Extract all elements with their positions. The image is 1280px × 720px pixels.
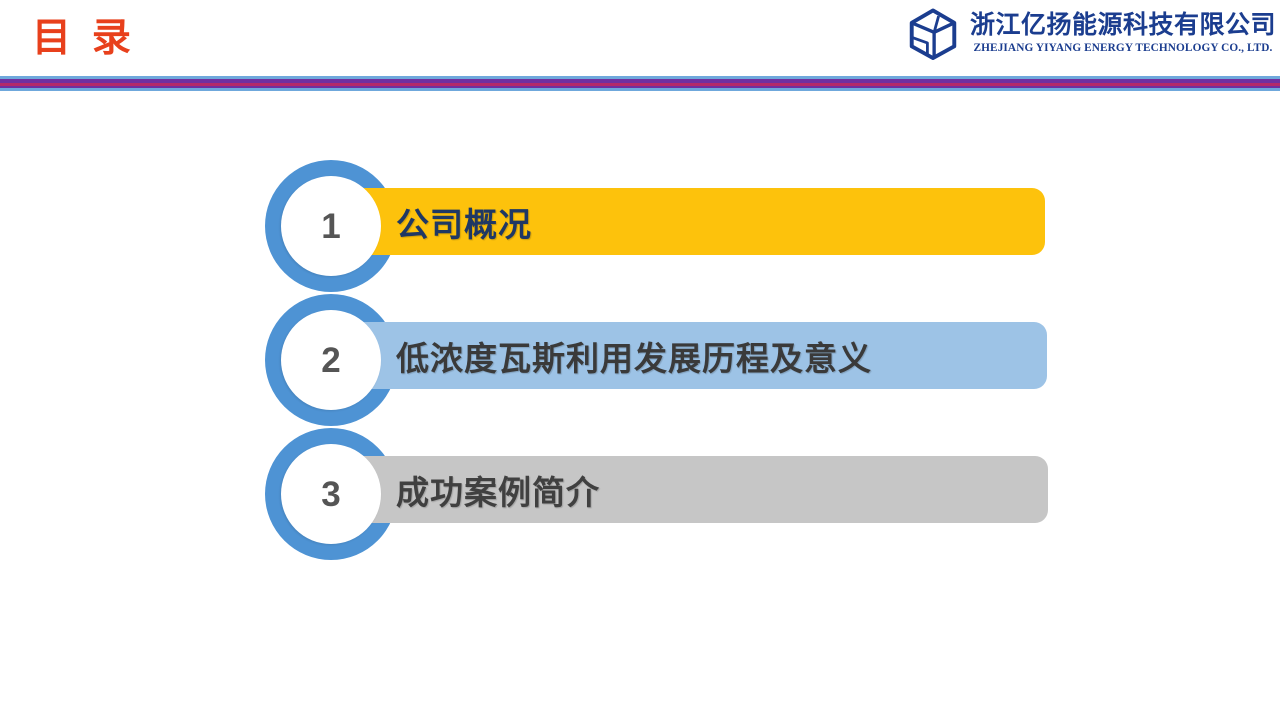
agenda-number-badge-1: 1 [281,176,381,276]
agenda-label-3: 成功案例简介 [396,456,600,523]
agenda-label-1: 公司概况 [396,188,532,255]
agenda-number-2: 2 [321,343,340,378]
agenda-bar-2[interactable]: 低浓度瓦斯利用发展历程及意义 [330,322,1047,389]
agenda-bar-1[interactable]: 公司概况 [330,188,1045,255]
agenda-item-3[interactable]: 成功案例简介 3 [0,423,1280,557]
agenda-item-1[interactable]: 公司概况 1 [0,155,1280,289]
agenda-list: 公司概况 1 低浓度瓦斯利用发展历程及意义 2 成功案例简介 3 [0,0,1280,720]
agenda-item-2[interactable]: 低浓度瓦斯利用发展历程及意义 2 [0,289,1280,423]
agenda-number-3: 3 [321,477,340,512]
agenda-number-1: 1 [321,209,340,244]
agenda-label-2: 低浓度瓦斯利用发展历程及意义 [396,322,872,389]
agenda-number-badge-3: 3 [281,444,381,544]
agenda-number-badge-2: 2 [281,310,381,410]
agenda-bar-3[interactable]: 成功案例简介 [330,456,1048,523]
